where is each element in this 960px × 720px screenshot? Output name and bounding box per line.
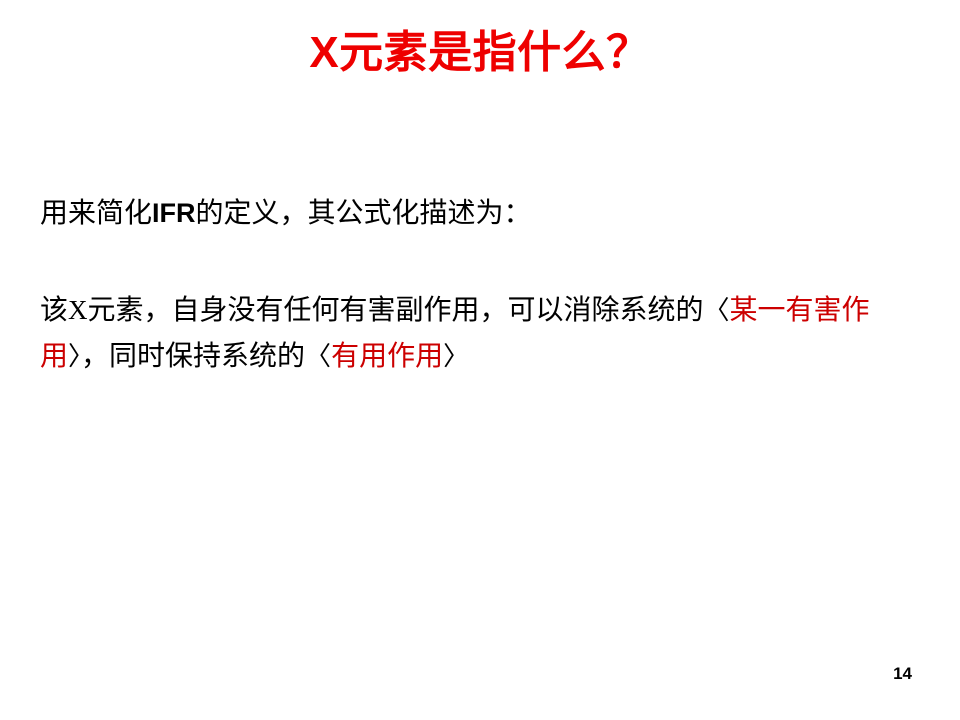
body-paragraph-definition: 用来简化IFR的定义，其公式化描述为： [40,190,920,237]
slide-title: X元素是指什么？ [0,24,960,82]
paragraph-2-useful-effect-highlight: 有用作用 [331,341,443,372]
slide-body: 用来简化IFR的定义，其公式化描述为： 该X元素，自身没有任何有害副作用，可以消… [40,190,920,380]
page-number: 14 [893,664,912,684]
paragraph-2-text-connector: ，同时保持系统的 [81,341,305,372]
paragraph-2-text-lead: 该 [40,295,68,326]
angle-bracket-close-icon-1: 〉 [68,342,81,372]
paragraph-2-text-middle: 元素，自身没有任何有害副作用，可以消除系统的 [88,295,704,326]
body-paragraph-formula: 该X元素，自身没有任何有害副作用，可以消除系统的〈某一有害作用〉，同时保持系统的… [40,287,880,380]
slide-canvas: X元素是指什么？ 用来简化IFR的定义，其公式化描述为： 该X元素，自身没有任何… [0,0,960,720]
paragraph-1-text-tail: 的定义，其公式化描述为： [196,198,532,229]
paragraph-1-ifr-abbreviation: IFR [152,198,196,228]
paragraph-1-text-lead: 用来简化 [40,198,152,229]
paragraph-2-x-symbol: X [68,295,88,325]
angle-bracket-open-icon-2: 〈 [305,342,331,372]
angle-bracket-close-icon-2: 〉 [443,342,469,372]
angle-bracket-open-icon-1: 〈 [704,296,730,326]
